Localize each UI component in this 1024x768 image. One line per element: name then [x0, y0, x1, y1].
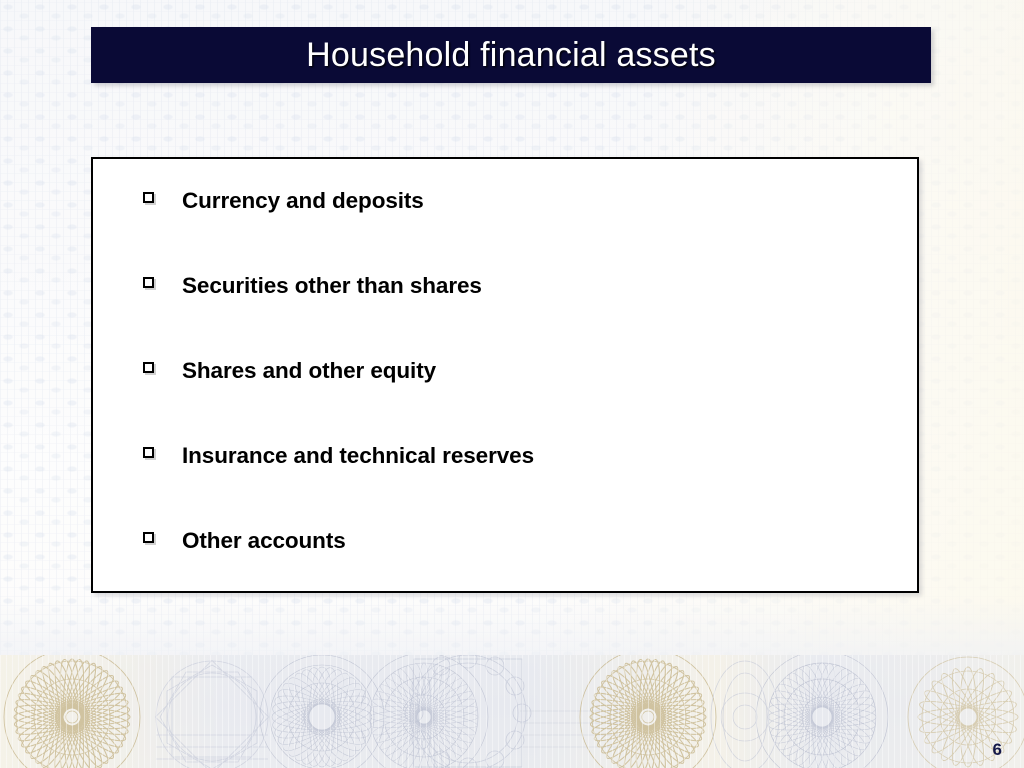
- list-item[interactable]: Currency and deposits: [93, 189, 917, 274]
- list-item-label: Securities other than shares: [182, 274, 482, 299]
- page-title: Household financial assets: [306, 38, 716, 72]
- hollow-square-bullet-icon: [143, 447, 161, 458]
- list-item-label: Currency and deposits: [182, 189, 424, 214]
- hollow-square-bullet-icon: [143, 277, 161, 288]
- list-item-label: Insurance and technical reserves: [182, 444, 534, 469]
- decorative-guilloche-band: [0, 655, 1024, 768]
- slide-title-bar: Household financial assets: [91, 27, 931, 83]
- list-item[interactable]: Shares and other equity: [93, 359, 917, 444]
- hollow-square-bullet-icon: [143, 192, 161, 203]
- list-item-label: Shares and other equity: [182, 359, 436, 384]
- list-item[interactable]: Other accounts: [93, 529, 917, 614]
- list-item[interactable]: Securities other than shares: [93, 274, 917, 359]
- bullet-list: Currency and deposits Securities other t…: [93, 189, 917, 614]
- list-item[interactable]: Insurance and technical reserves: [93, 444, 917, 529]
- presentation-slide: Household financial assets Currency and …: [0, 0, 1024, 768]
- hollow-square-bullet-icon: [143, 532, 161, 543]
- page-number: 6: [993, 740, 1002, 760]
- list-item-label: Other accounts: [182, 529, 346, 554]
- hollow-square-bullet-icon: [143, 362, 161, 373]
- content-box: Currency and deposits Securities other t…: [91, 157, 919, 593]
- band-stripe-overlay: [0, 655, 1024, 768]
